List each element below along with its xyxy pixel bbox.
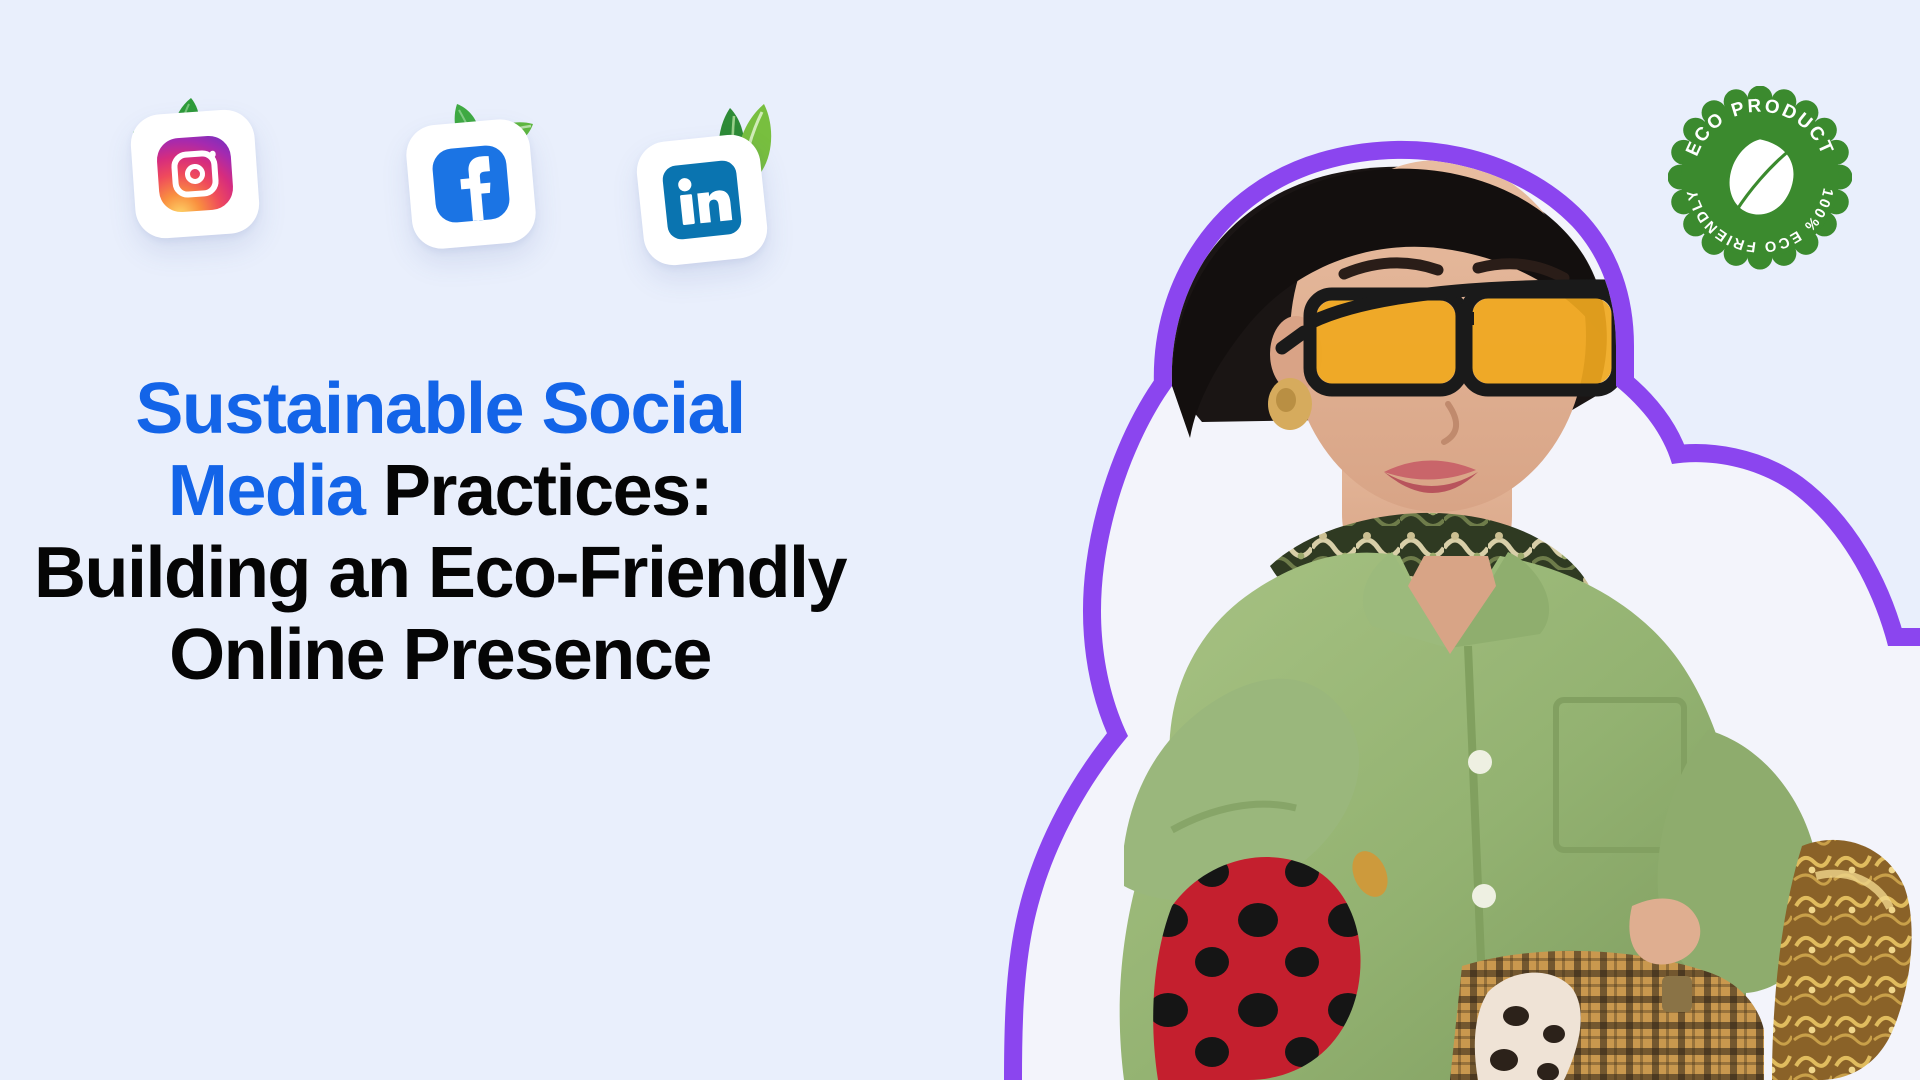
linkedin-glyph bbox=[661, 159, 742, 240]
headline-line-4: Online Presence bbox=[0, 614, 880, 696]
headline-line-2: Media Practices: bbox=[0, 450, 880, 532]
facebook-glyph bbox=[431, 144, 511, 224]
instagram-tile bbox=[129, 108, 261, 240]
headline-line-1: Sustainable Social bbox=[0, 368, 880, 450]
headline-rest-2: Practices: bbox=[364, 451, 712, 531]
linkedin-tile bbox=[634, 132, 770, 268]
model-photo bbox=[872, 86, 1920, 1080]
social-icons-row bbox=[0, 0, 1000, 340]
headline-highlight-2: Media bbox=[168, 451, 365, 531]
facebook-tile bbox=[404, 117, 538, 251]
shirt-button bbox=[1472, 884, 1496, 908]
sunglasses bbox=[1282, 286, 1618, 390]
headline-line-3: Building an Eco-Friendly bbox=[0, 532, 880, 614]
headline-highlight-1: Sustainable Social bbox=[135, 369, 744, 449]
shirt-button bbox=[1468, 750, 1492, 774]
instagram-glyph bbox=[156, 135, 235, 214]
trouser-button bbox=[1662, 976, 1692, 1012]
page-title: Sustainable Social Media Practices: Buil… bbox=[0, 368, 880, 696]
banner-canvas: Sustainable Social Media Practices: Buil… bbox=[0, 0, 1920, 1080]
